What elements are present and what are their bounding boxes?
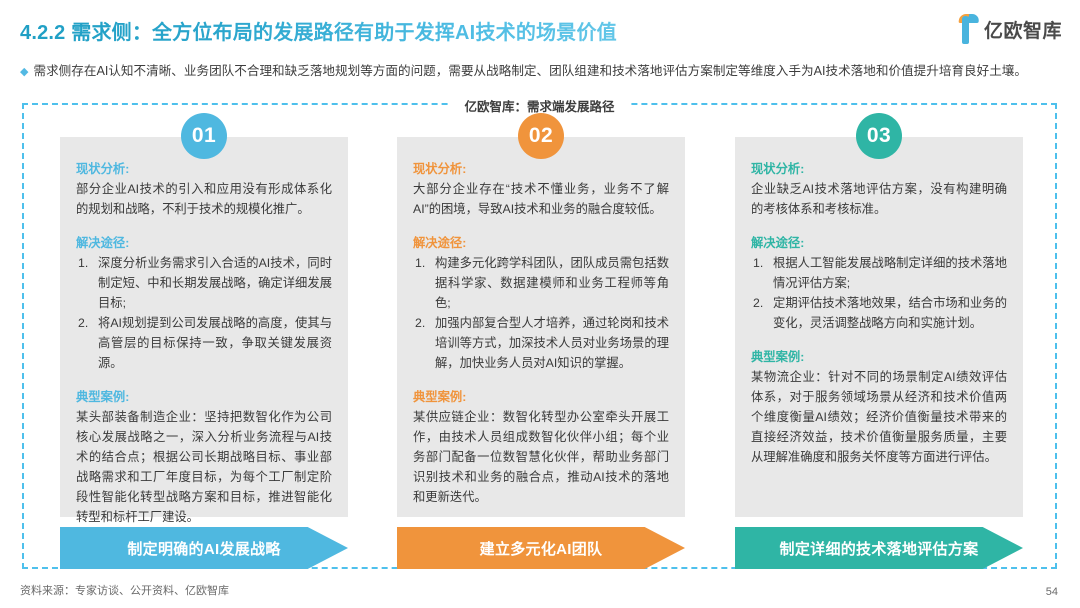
status-analysis-heading: 现状分析: bbox=[413, 159, 669, 177]
cards-container: 01现状分析:部分企业AI技术的引入和应用没有形成体系化的规划和战略，不利于技术… bbox=[24, 105, 1055, 567]
solution-list-item: 2.将AI规划提到公司发展战略的高度，使其与高管层的目标保持一致，争取关键发展资… bbox=[76, 313, 332, 373]
solution-item-number: 1. bbox=[415, 253, 425, 273]
solution-list: 1.构建多元化跨学科团队，团队成员需包括数据科学家、数据建模师和业务工程师等角色… bbox=[413, 253, 669, 373]
status-analysis-text: 部分企业AI技术的引入和应用没有形成体系化的规划和战略，不利于技术的规模化推广。 bbox=[76, 179, 332, 219]
solution-item-text: 根据人工智能发展战略制定详细的技术落地情况评估方案; bbox=[773, 256, 1007, 290]
solution-item-number: 2. bbox=[753, 293, 763, 313]
solution-item-text: 定期评估技术落地效果，结合市场和业务的变化，灵活调整战略方向和实施计划。 bbox=[773, 296, 1007, 330]
lead-paragraph: ◆ 需求侧存在AI认知不清晰、业务团队不合理和缺乏落地规划等方面的问题，需要从战… bbox=[20, 62, 1066, 81]
status-analysis-heading: 现状分析: bbox=[751, 159, 1007, 177]
brand-logo: 亿欧智库 bbox=[959, 14, 1062, 44]
status-analysis-heading: 现状分析: bbox=[76, 159, 332, 177]
status-analysis-text: 企业缺乏AI技术落地评估方案，没有构建明确的考核体系和考核标准。 bbox=[751, 179, 1007, 219]
solution-list: 1.根据人工智能发展战略制定详细的技术落地情况评估方案;2.定期评估技术落地效果… bbox=[751, 253, 1007, 333]
solution-list-item: 2.加强内部复合型人才培养，通过轮岗和技术培训等方式，加深技术人员对业务场景的理… bbox=[413, 313, 669, 373]
solution-item-number: 2. bbox=[78, 313, 88, 333]
source-note: 资料来源：专家访谈、公开资料、亿欧智库 bbox=[20, 582, 229, 598]
case-heading: 典型案例: bbox=[76, 387, 332, 405]
card-body: 现状分析:大部分企业存在“技术不懂业务，业务不了解AI”的困境，导致AI技术和业… bbox=[397, 137, 685, 517]
card-body: 现状分析:部分企业AI技术的引入和应用没有形成体系化的规划和战略，不利于技术的规… bbox=[60, 137, 348, 517]
pathway-card: 02现状分析:大部分企业存在“技术不懂业务，业务不了解AI”的困境，导致AI技术… bbox=[397, 127, 685, 569]
solution-item-text: 将AI规划提到公司发展战略的高度，使其与高管层的目标保持一致，争取关键发展资源。 bbox=[98, 316, 332, 370]
diamond-bullet-icon: ◆ bbox=[20, 63, 28, 82]
solution-heading: 解决途径: bbox=[413, 233, 669, 251]
solution-list-item: 1.深度分析业务需求引入合适的AI技术，同时制定短、中和长期发展战略，确定详细发… bbox=[76, 253, 332, 313]
pathway-card: 01现状分析:部分企业AI技术的引入和应用没有形成体系化的规划和战略，不利于技术… bbox=[60, 127, 348, 569]
solution-item-number: 1. bbox=[78, 253, 88, 273]
page-number: 54 bbox=[1046, 586, 1058, 598]
solution-item-number: 2. bbox=[415, 313, 425, 333]
page-title: 4.2.2 需求侧：全方位布局的发展路径有助于发挥AI技术的场景价值 bbox=[20, 16, 617, 45]
solution-list: 1.深度分析业务需求引入合适的AI技术，同时制定短、中和长期发展战略，确定详细发… bbox=[76, 253, 332, 373]
solution-item-text: 深度分析业务需求引入合适的AI技术，同时制定短、中和长期发展战略，确定详细发展目… bbox=[98, 256, 332, 310]
case-text: 某供应链企业：数智化转型办公室牵头开展工作，由技术人员组成数智化伙伴小组；每个业… bbox=[413, 407, 669, 507]
pathway-card: 03现状分析:企业缺乏AI技术落地评估方案，没有构建明确的考核体系和考核标准。解… bbox=[735, 127, 1023, 569]
case-heading: 典型案例: bbox=[751, 347, 1007, 365]
solution-list-item: 1.根据人工智能发展战略制定详细的技术落地情况评估方案; bbox=[751, 253, 1007, 293]
slide-page: 4.2.2 需求侧：全方位布局的发展路径有助于发挥AI技术的场景价值 亿欧智库 … bbox=[0, 0, 1080, 608]
card-step-badge: 02 bbox=[518, 113, 564, 159]
card-body: 现状分析:企业缺乏AI技术落地评估方案，没有构建明确的考核体系和考核标准。解决途… bbox=[735, 137, 1023, 517]
lead-text: 需求侧存在AI认知不清晰、业务团队不合理和缺乏落地规划等方面的问题，需要从战略制… bbox=[33, 62, 1063, 81]
dashed-panel: 亿欧智库：需求端发展路径 01现状分析:部分企业AI技术的引入和应用没有形成体系… bbox=[22, 103, 1057, 569]
solution-item-text: 构建多元化跨学科团队，团队成员需包括数据科学家、数据建模师和业务工程师等角色; bbox=[435, 256, 669, 310]
solution-list-item: 2.定期评估技术落地效果，结合市场和业务的变化，灵活调整战略方向和实施计划。 bbox=[751, 293, 1007, 333]
card-step-badge: 01 bbox=[181, 113, 227, 159]
solution-item-number: 1. bbox=[753, 253, 763, 273]
card-arrow-banner: 建立多元化AI团队 bbox=[397, 527, 685, 569]
logo-text: 亿欧智库 bbox=[984, 16, 1062, 43]
status-analysis-text: 大部分企业存在“技术不懂业务，业务不了解AI”的困境，导致AI技术和业务的融合度… bbox=[413, 179, 669, 219]
case-text: 某物流企业：针对不同的场景制定AI绩效评估体系，对于服务领域场景从经济和技术价值… bbox=[751, 367, 1007, 467]
card-arrow-banner: 制定明确的AI发展战略 bbox=[60, 527, 348, 569]
case-text: 某头部装备制造企业：坚持把数智化作为公司核心发展战略之一，深入分析业务流程与AI… bbox=[76, 407, 332, 527]
logo-mark-icon bbox=[959, 14, 981, 44]
solution-heading: 解决途径: bbox=[751, 233, 1007, 251]
solution-item-text: 加强内部复合型人才培养，通过轮岗和技术培训等方式，加深技术人员对业务场景的理解，… bbox=[435, 316, 669, 370]
solution-list-item: 1.构建多元化跨学科团队，团队成员需包括数据科学家、数据建模师和业务工程师等角色… bbox=[413, 253, 669, 313]
solution-heading: 解决途径: bbox=[76, 233, 332, 251]
case-heading: 典型案例: bbox=[413, 387, 669, 405]
card-step-badge: 03 bbox=[856, 113, 902, 159]
card-arrow-banner: 制定详细的技术落地评估方案 bbox=[735, 527, 1023, 569]
